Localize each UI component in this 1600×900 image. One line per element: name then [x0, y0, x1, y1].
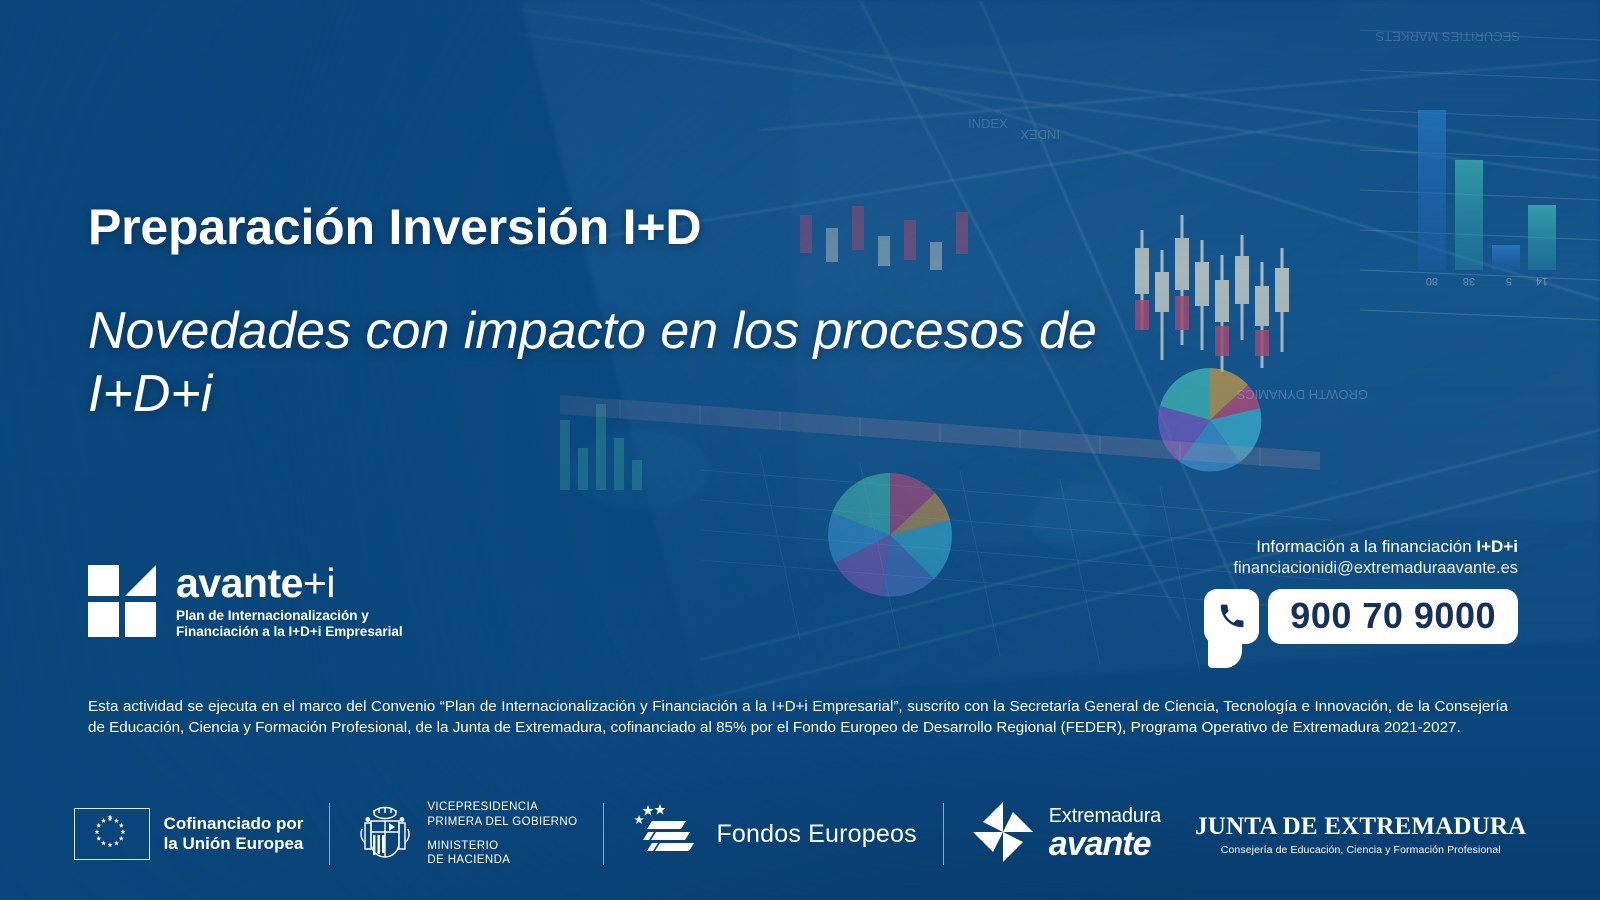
- svg-text:80: 80: [1426, 275, 1438, 287]
- svg-text:GROWTH DYNAMICS: GROWTH DYNAMICS: [1236, 387, 1368, 402]
- contact-email[interactable]: financiacionidi@extremaduraavante.es: [1088, 558, 1518, 579]
- svg-text:INDEX: INDEX: [1020, 127, 1060, 142]
- eu-label: Cofinanciado por la Unión Europea: [164, 814, 304, 855]
- footer-divider-2: [603, 803, 604, 865]
- background-artwork: 80 38 5 14: [0, 0, 1600, 900]
- spain-label: VICEPRESIDENCIA PRIMERA DEL GOBIERNO MIN…: [427, 800, 577, 868]
- spain-label-line4: DE HACIENDA: [427, 853, 577, 867]
- footer-divider-3: [943, 803, 944, 865]
- svg-text:INDEX: INDEX: [968, 116, 1008, 131]
- slide-canvas: 80 38 5 14: [0, 0, 1600, 900]
- extremadura-avante-pinwheel-icon: [970, 799, 1036, 870]
- contact-block: Información a la financiación I+D+i fina…: [1088, 536, 1518, 644]
- avante-name: avante: [176, 560, 303, 606]
- spain-label-line3: MINISTERIO: [427, 839, 577, 853]
- logo-junta-extremadura: JUNTA DE EXTREMADURA Consejería de Educa…: [1195, 813, 1526, 856]
- contact-heading-text: Información a la financiación: [1256, 537, 1476, 556]
- eu-label-line1: Cofinanciado por: [164, 814, 304, 834]
- footer-logo-bar: Cofinanciado por la Unión Europea: [0, 786, 1600, 882]
- extremadura-label-line2: avante: [1049, 828, 1161, 861]
- footer-divider-1: [329, 803, 330, 865]
- disclaimer-text: Esta actividad se ejecuta en el marco de…: [88, 697, 1508, 739]
- contact-heading: Información a la financiación I+D+i: [1088, 536, 1518, 557]
- spain-label-line1: VICEPRESIDENCIA: [427, 800, 577, 814]
- logo-extremadura-avante: Extremadura avante: [970, 799, 1161, 870]
- svg-text:5: 5: [1506, 275, 1512, 287]
- phone-number-pill[interactable]: 900 70 9000: [1268, 589, 1518, 644]
- page-subtitle: Novedades con impacto en los procesos de…: [88, 300, 1098, 427]
- extremadura-label-line1: Extremadura: [1049, 807, 1161, 826]
- avante-wordmark: avante+i Plan de Internacionalización y …: [176, 562, 403, 641]
- phone-handset-icon: [1204, 589, 1259, 644]
- logo-eu: Cofinanciado por la Unión Europea: [74, 808, 304, 860]
- avante-word: avante+i: [176, 564, 403, 603]
- svg-text:SECURITIES MARKETS: SECURITIES MARKETS: [1375, 29, 1520, 44]
- avante-suffix: i: [326, 560, 335, 606]
- spain-label-line2: PRIMERA DEL GOBIERNO: [427, 815, 577, 829]
- avante-plus: +: [303, 560, 326, 606]
- contact-heading-bold: I+D+i: [1476, 537, 1518, 556]
- page-title: Preparación Inversión I+D: [88, 198, 701, 256]
- avante-brand-lockup: avante+i Plan de Internacionalización y …: [88, 562, 403, 641]
- extremadura-avante-label: Extremadura avante: [1049, 807, 1161, 860]
- junta-title: JUNTA DE EXTREMADURA: [1195, 813, 1526, 841]
- junta-subtitle: Consejería de Educación, Ciencia y Forma…: [1195, 844, 1526, 856]
- pinwheel-squares-icon: [88, 565, 160, 637]
- background-chart-graphics: 80 38 5 14: [0, 0, 1600, 900]
- eu-flag-icon: [74, 808, 150, 860]
- fondos-europeos-bars-stars-icon: [630, 803, 702, 866]
- avante-tagline-line1: Plan de Internacionalización y: [176, 608, 403, 624]
- spain-coat-of-arms-icon: [356, 801, 414, 868]
- logo-spain-ministry: VICEPRESIDENCIA PRIMERA DEL GOBIERNO MIN…: [356, 800, 577, 868]
- eu-label-line2: la Unión Europea: [164, 834, 304, 854]
- fondos-label: Fondos Europeos: [716, 820, 916, 849]
- svg-text:38: 38: [1463, 275, 1475, 287]
- svg-text:14: 14: [1536, 275, 1548, 287]
- phone-number: 900 70 9000: [1290, 598, 1496, 634]
- logo-fondos-europeos: Fondos Europeos: [630, 803, 916, 866]
- avante-tagline-line2: Financiación a la I+D+i Empresarial: [176, 624, 403, 640]
- phone-row: 900 70 9000: [1088, 589, 1518, 644]
